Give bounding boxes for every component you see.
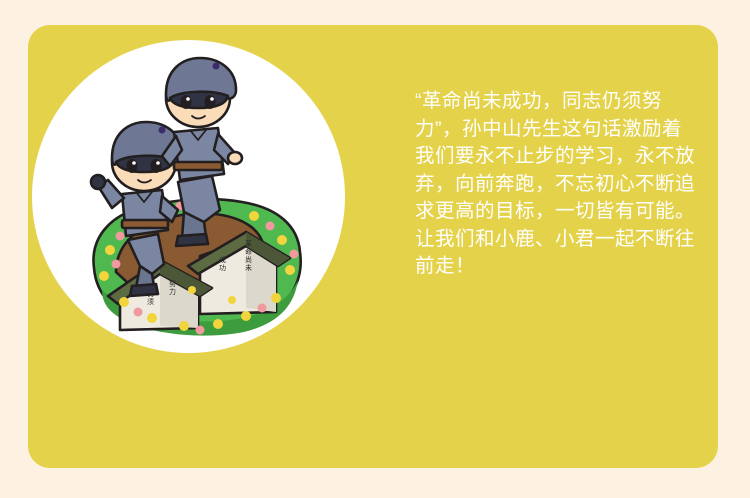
quote-text-block: “革命尚未成功，同志仍须努 力”，孙中山先生这句话激励着 我们要永不止步的学习，… bbox=[415, 88, 697, 281]
wall-label-right-secondary: 成功 bbox=[219, 255, 227, 272]
quote-line: 求更高的目标，一切皆有可能。 bbox=[415, 198, 697, 226]
illustration-artwork: .ol { stroke:#231f20; stroke-width:2.6; … bbox=[32, 40, 345, 353]
quote-line: 弃，向前奔跑，不忘初心不断追 bbox=[415, 171, 697, 199]
wall-label-right-main: 革命尚未 bbox=[245, 239, 253, 272]
illustration-circle: .ol { stroke:#231f20; stroke-width:2.6; … bbox=[32, 40, 345, 353]
quote-line: 前走！ bbox=[415, 253, 697, 281]
quote-line: 让我们和小鹿、小君一起不断往 bbox=[415, 226, 697, 254]
quote-line: “革命尚未成功，同志仍须努 bbox=[415, 88, 697, 116]
quote-line: 力”，孙中山先生这句话激励着 bbox=[415, 116, 697, 144]
quote-line: 我们要永不止步的学习，永不放 bbox=[415, 143, 697, 171]
wall-label-left-secondary: 努力 bbox=[169, 279, 177, 296]
